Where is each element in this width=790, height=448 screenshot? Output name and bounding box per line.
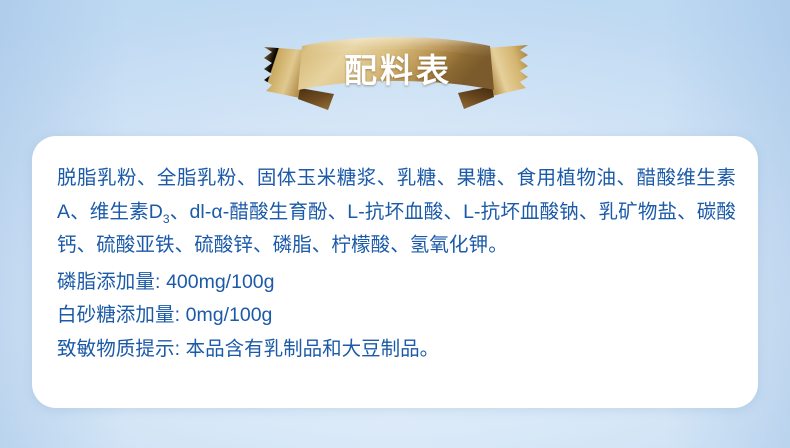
- fact-row-phospholipid: 磷脂添加量: 400mg/100g: [57, 266, 736, 300]
- ribbon-right-fold: [458, 86, 494, 109]
- fact-row-sugar: 白砂糖添加量: 0mg/100g: [57, 299, 736, 333]
- ribbon-shape-svg: [262, 28, 530, 112]
- vitamin-d3-subscript: 3: [163, 211, 170, 225]
- fact-label: 致敏物质提示:: [57, 338, 180, 360]
- fact-value: 本品含有乳制品和大豆制品。: [186, 338, 440, 360]
- fact-label: 磷脂添加量:: [57, 271, 161, 293]
- ribbon-left-fold: [298, 88, 334, 110]
- fact-value: 0mg/100g: [186, 304, 273, 326]
- ingredients-paragraph: 脱脂乳粉、全脂乳粉、固体玉米糖浆、乳糖、果糖、食用植物油、醋酸维生素A、维生素D…: [57, 162, 736, 263]
- ingredients-card: 脱脂乳粉、全脂乳粉、固体玉米糖浆、乳糖、果糖、食用植物油、醋酸维生素A、维生素D…: [32, 136, 758, 408]
- ribbon-banner: 配料表: [262, 28, 530, 112]
- product-ingredients-panel: 配料表 脱脂乳粉、全脂乳粉、固体玉米糖浆、乳糖、果糖、食用植物油、醋酸维生素A、…: [0, 0, 790, 448]
- fact-label: 白砂糖添加量:: [57, 304, 180, 326]
- ingredients-card-body: 脱脂乳粉、全脂乳粉、固体玉米糖浆、乳糖、果糖、食用植物油、醋酸维生素A、维生素D…: [57, 162, 736, 366]
- fact-row-allergen: 致敏物质提示: 本品含有乳制品和大豆制品。: [57, 333, 736, 367]
- fact-value: 400mg/100g: [166, 271, 274, 293]
